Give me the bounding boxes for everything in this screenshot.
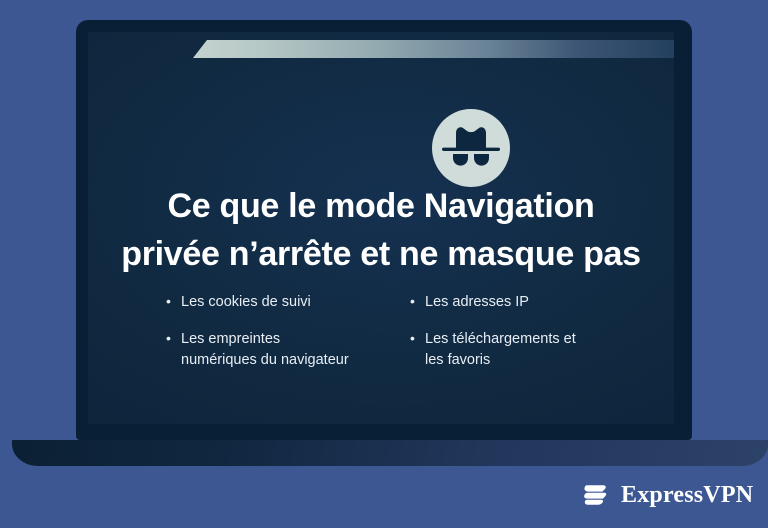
- list-item: Les téléchargements et les favoris: [410, 329, 596, 371]
- incognito-icon: [431, 108, 511, 188]
- list-item: Les adresses IP: [410, 292, 596, 313]
- slide-canvas: Ce que le mode Navigation privée n’arrêt…: [0, 0, 768, 528]
- bullet-columns: Les cookies de suivi Les empreintes numé…: [88, 292, 674, 402]
- accent-bar: [193, 40, 674, 58]
- laptop-base: [12, 440, 768, 466]
- list-item: Les cookies de suivi: [166, 292, 352, 313]
- bullet-column-left: Les cookies de suivi Les empreintes numé…: [166, 292, 352, 402]
- expressvpn-logo: ExpressVPN: [578, 478, 753, 512]
- list-item: Les empreintes numériques du navigateur: [166, 329, 352, 371]
- bullet-column-right: Les adresses IP Les téléchargements et l…: [410, 292, 596, 402]
- page-title: Ce que le mode Navigation privée n’arrêt…: [88, 182, 674, 278]
- expressvpn-logo-mark: [578, 478, 612, 512]
- brand-name: ExpressVPN: [621, 483, 753, 507]
